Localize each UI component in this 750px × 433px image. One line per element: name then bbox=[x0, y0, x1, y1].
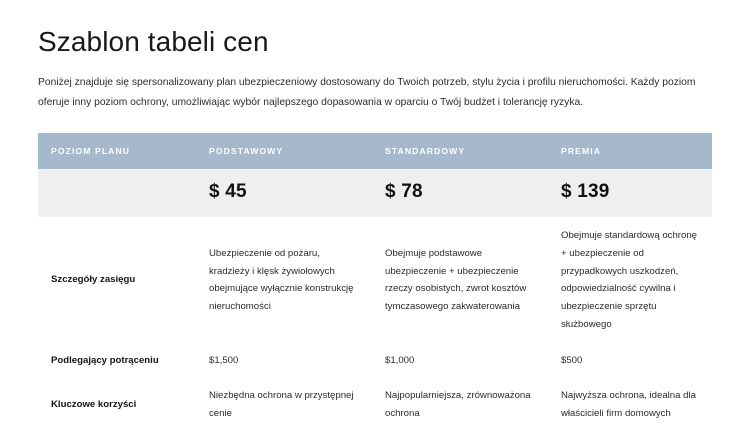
column-header-standard: STANDARDOWY bbox=[372, 133, 548, 169]
pricing-table: POZIOM PLANU PODSTAWOWY STANDARDOWY PREM… bbox=[38, 133, 712, 433]
page-title: Szablon tabeli cen bbox=[38, 0, 712, 59]
price-label-cell bbox=[38, 169, 196, 217]
cell-deductible-standard: $1,000 bbox=[372, 344, 548, 378]
intro-paragraph: Poniżej znajduje się spersonalizowany pl… bbox=[38, 73, 712, 113]
cell-benefits-standard: Najpopularniejsza, zrównoważona ochrona bbox=[372, 377, 548, 432]
row-label-deductible: Podlegający potrąceniu bbox=[38, 344, 196, 378]
cell-coverage-basic: Ubezpieczenie od pożaru, kradzieży i klę… bbox=[196, 217, 372, 343]
column-header-basic: PODSTAWOWY bbox=[196, 133, 372, 169]
table-row: Szczegóły zasięgu Ubezpieczenie od pożar… bbox=[38, 217, 712, 343]
cell-coverage-standard: Obejmuje podstawowe ubezpieczenie + ubez… bbox=[372, 217, 548, 343]
row-label-key-benefits: Kluczowe korzyści bbox=[38, 377, 196, 432]
pricing-page: Szablon tabeli cen Poniżej znajduje się … bbox=[0, 0, 750, 428]
cell-benefits-basic: Niezbędna ochrona w przystępnej cenie bbox=[196, 377, 372, 432]
cell-coverage-premium: Obejmuje standardową ochronę + ubezpiecz… bbox=[548, 217, 712, 343]
price-row: $ 45 $ 78 $ 139 bbox=[38, 169, 712, 217]
cell-deductible-basic: $1,500 bbox=[196, 344, 372, 378]
cell-deductible-premium: $500 bbox=[548, 344, 712, 378]
column-header-plan-level: POZIOM PLANU bbox=[38, 133, 196, 169]
price-standard: $ 78 bbox=[372, 169, 548, 217]
row-label-coverage-details: Szczegóły zasięgu bbox=[38, 217, 196, 343]
price-premium: $ 139 bbox=[548, 169, 712, 217]
table-row: Kluczowe korzyści Niezbędna ochrona w pr… bbox=[38, 377, 712, 432]
table-row: Podlegający potrąceniu $1,500 $1,000 $50… bbox=[38, 344, 712, 378]
table-header-row: POZIOM PLANU PODSTAWOWY STANDARDOWY PREM… bbox=[38, 133, 712, 169]
cell-benefits-premium: Najwyższa ochrona, idealna dla właścicie… bbox=[548, 377, 712, 432]
price-basic: $ 45 bbox=[196, 169, 372, 217]
column-header-premium: PREMIA bbox=[548, 133, 712, 169]
